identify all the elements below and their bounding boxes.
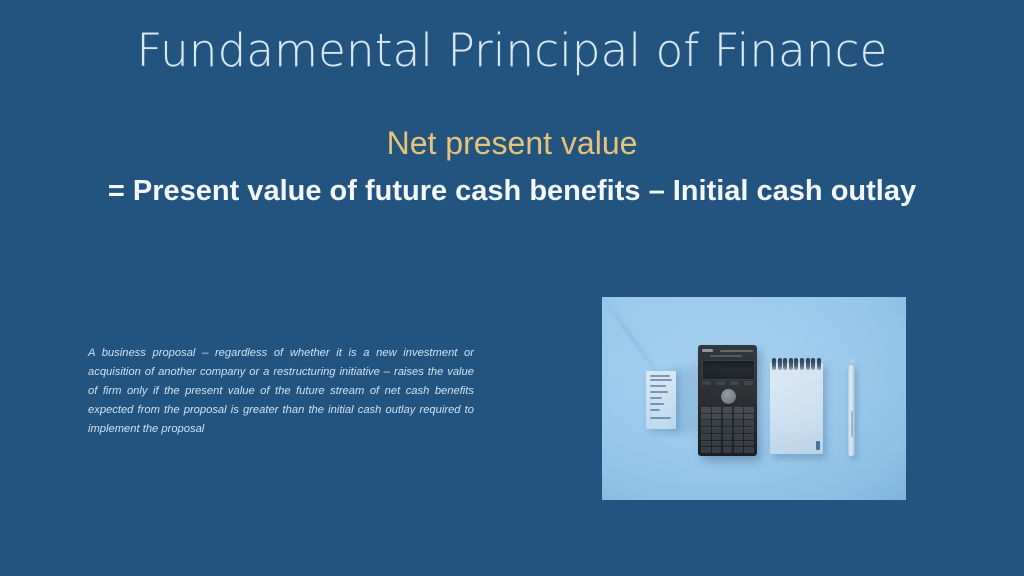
calculator-model-label [710, 355, 742, 357]
calculator-keypad [701, 407, 754, 453]
photo-item-pen [848, 359, 855, 456]
body-paragraph: A business proposal – regardless of whet… [88, 344, 474, 439]
formula-text: = Present value of future cash benefits … [0, 174, 1024, 209]
calculator-display [702, 360, 755, 380]
calculator-function-row [702, 381, 753, 389]
calculator-dpad [721, 389, 736, 404]
photo-item-calculator [698, 345, 757, 456]
notepad-spiral-binding [772, 358, 821, 370]
pen-clip [851, 411, 853, 437]
photo-flatlay-desk [602, 297, 906, 500]
photo-item-notepad [770, 363, 823, 454]
calculator-brand-label [702, 348, 753, 353]
photo-item-receipts [646, 371, 676, 429]
page-title: Fundamental Principal of Finance [0, 26, 1024, 76]
notepad-corner-tab [816, 441, 820, 450]
slide-canvas: Fundamental Principal of Finance Net pre… [0, 0, 1024, 576]
subtitle-net-present-value: Net present value [0, 125, 1024, 162]
